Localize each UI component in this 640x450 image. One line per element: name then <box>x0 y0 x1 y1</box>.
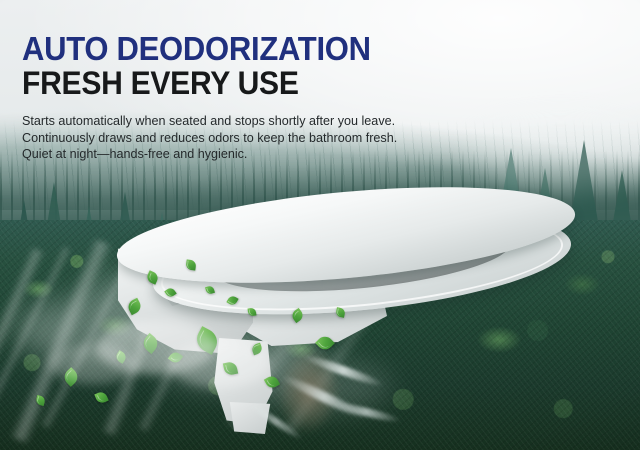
headline-line-1: AUTO DEODORIZATION <box>22 33 371 66</box>
promo-banner: AUTO DEODORIZATION FRESH EVERY USE Start… <box>0 0 640 450</box>
headline-block: AUTO DEODORIZATION FRESH EVERY USE <box>22 33 393 99</box>
body-copy: Starts automatically when seated and sto… <box>22 113 397 163</box>
body-line-2: Continuously draws and reduces odors to … <box>22 130 397 147</box>
headline-line-2: FRESH EVERY USE <box>22 68 371 100</box>
body-line-3: Quiet at night—hands-free and hygienic. <box>22 146 397 163</box>
body-line-1: Starts automatically when seated and sto… <box>22 113 397 130</box>
